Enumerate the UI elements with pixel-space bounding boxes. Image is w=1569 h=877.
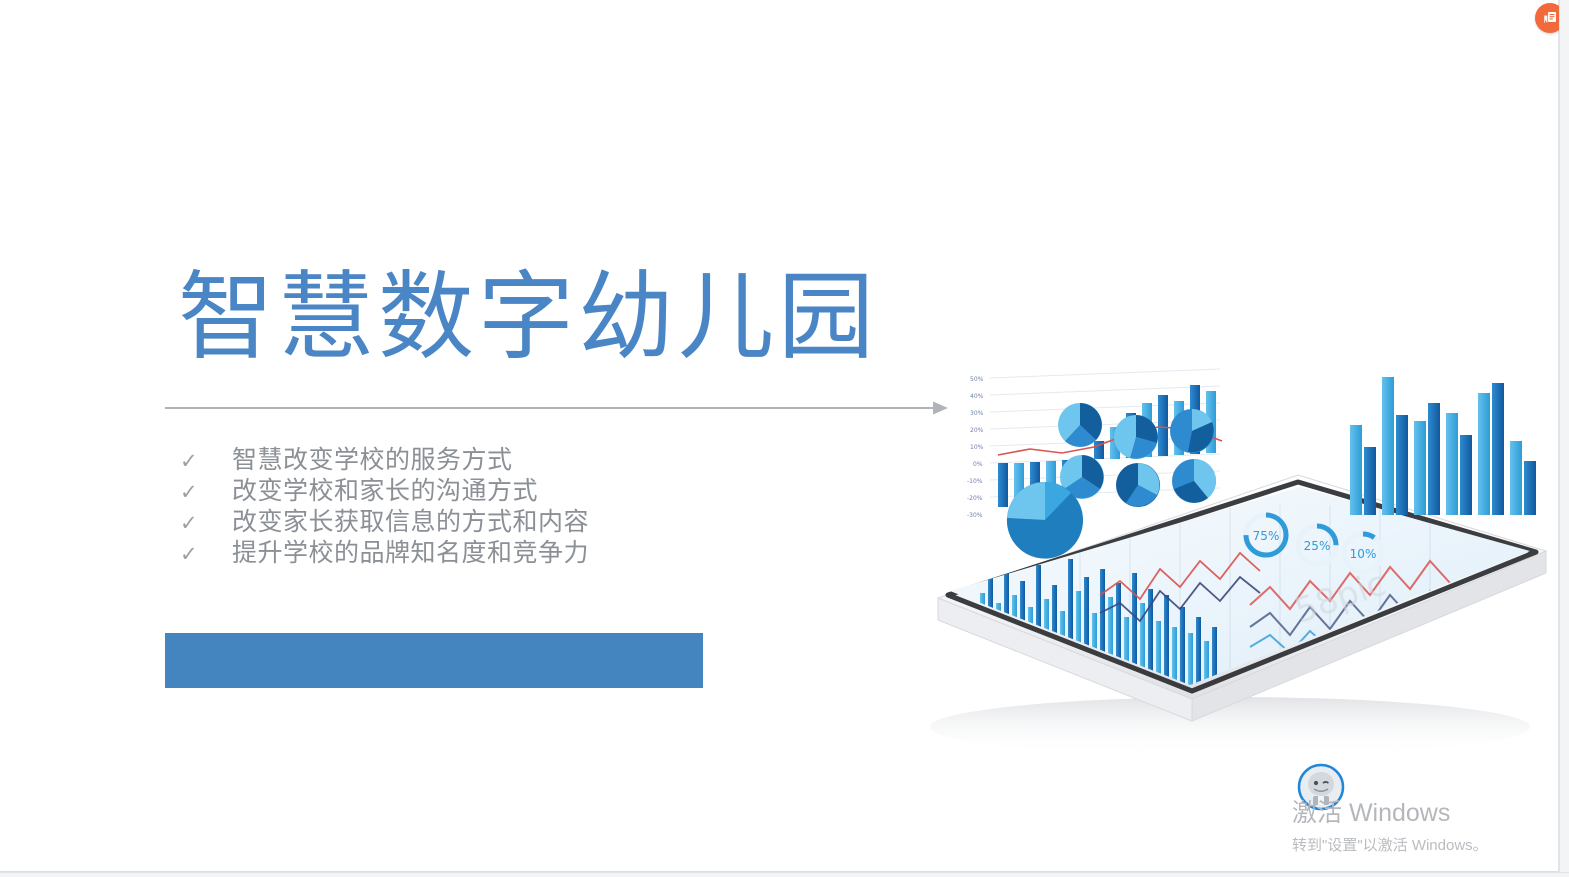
floating-right-bar-chart: [1350, 377, 1536, 515]
gauge-label: 10%: [1350, 547, 1377, 561]
svg-text:20%: 20%: [970, 427, 984, 434]
list-item-label: 提升学校的品牌知名度和竞争力: [232, 533, 589, 569]
gauge-label: 25%: [1304, 539, 1331, 553]
bullet-list: ✓ 智慧改变学校的服务方式 ✓ 改变学校和家长的沟通方式 ✓ 改变家长获取信息的…: [180, 440, 700, 564]
svg-text:0%: 0%: [973, 461, 983, 468]
svg-text:-30%: -30%: [967, 512, 983, 519]
check-icon: ✓: [180, 482, 232, 503]
svg-text:-10%: -10%: [967, 478, 983, 485]
accent-bar: [165, 633, 703, 688]
presentation-slide: 智慧数字幼儿园 ✓ 智慧改变学校的服务方式 ✓ 改变学校和家长的沟通方式 ✓ 改…: [0, 0, 1569, 877]
list-item: ✓ 提升学校的品牌知名度和竞争力: [180, 533, 700, 564]
slide-edge-right: [1559, 0, 1569, 877]
activation-subtitle: 转到"设置"以激活 Windows。: [1292, 834, 1552, 855]
list-item: ✓ 智慧改变学校的服务方式: [180, 440, 700, 471]
svg-text:50%: 50%: [970, 376, 984, 383]
svg-text:-20%: -20%: [967, 495, 983, 502]
windows-activation-watermark: 激活 Windows 转到"设置"以激活 Windows。: [1292, 800, 1552, 855]
list-item: ✓ 改变家长获取信息的方式和内容: [180, 502, 700, 533]
svg-text:10%: 10%: [970, 444, 984, 451]
tablet-shadow: [930, 697, 1530, 757]
tablet-data-analytics-illustration: 50% 40% 30% 20% 10% 0% -10% -20% -30%: [830, 355, 1569, 775]
check-icon: ✓: [180, 513, 232, 534]
activation-title: 激活 Windows: [1292, 800, 1552, 828]
check-icon: ✓: [180, 544, 232, 565]
gauge-label: 75%: [1253, 529, 1280, 543]
document-convert-icon: [1541, 9, 1559, 27]
floating-large-pie: [1007, 482, 1083, 559]
svg-text:40%: 40%: [970, 393, 984, 400]
list-item: ✓ 改变学校和家长的沟通方式: [180, 471, 700, 502]
slide-edge-bottom: [0, 872, 1569, 877]
check-icon: ✓: [180, 451, 232, 472]
slide-title: 智慧数字幼儿园: [178, 266, 878, 370]
svg-text:30%: 30%: [970, 410, 984, 417]
